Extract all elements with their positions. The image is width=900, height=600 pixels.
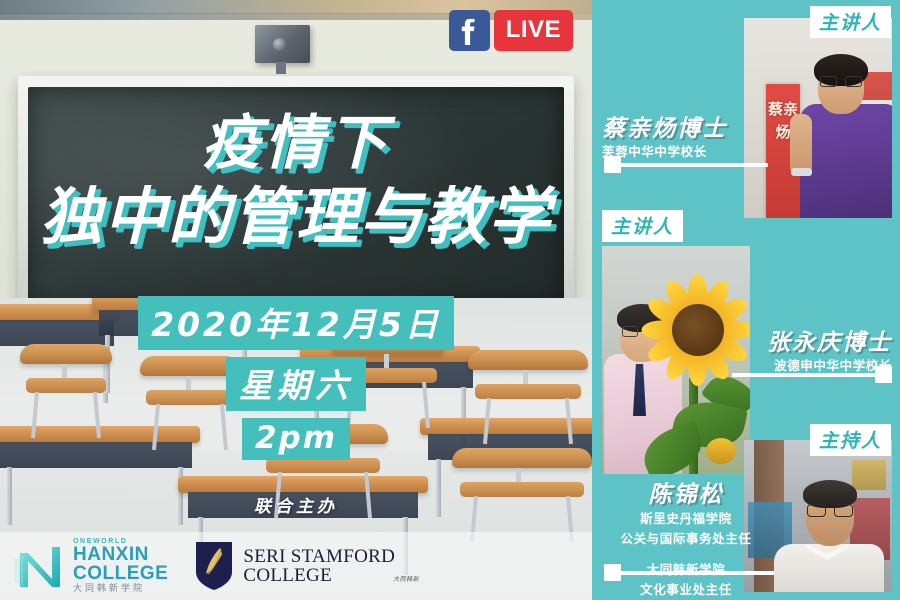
moderator-title-2-b: 文化事业处主任 <box>596 582 776 599</box>
role-badge-speaker-one: 主讲人 <box>810 6 891 38</box>
eyeglasses-icon <box>820 76 862 87</box>
speaker-one-name: 蔡亲炀博士 <box>602 116 727 142</box>
speaker-one-title: 芙蓉中华中学校长 <box>602 144 727 161</box>
moderator-name: 陈锦松 <box>596 482 776 508</box>
hanxin-name-line-2: COLLEGE <box>73 564 168 583</box>
title-line-two: 独中的管理与教学 <box>0 184 592 249</box>
event-weekday: 星期六 <box>226 357 366 411</box>
classroom-photo-panel: LIVE 疫情下 独中的管理与教学 2020年12月5日 星期六 2pm 联合主… <box>0 0 592 600</box>
title-line-one: 疫情下 <box>0 112 592 174</box>
wall-speaker-mount <box>276 62 286 74</box>
event-date: 2020年12月5日 <box>138 296 454 350</box>
organiser-logos: ONEWORLD HANXIN COLLEGE 大同韩新学院 SERI STAM… <box>0 532 592 600</box>
role-badge-speaker-two: 主讲人 <box>602 210 683 242</box>
speaker-two-name: 张永庆博士 <box>740 330 892 356</box>
stamford-name-line-1: SERI STAMFORD <box>243 547 395 566</box>
hanxin-n-mark <box>14 543 66 589</box>
role-badge-moderator: 主持人 <box>810 424 891 456</box>
hanxin-college-logo: ONEWORLD HANXIN COLLEGE 大同韩新学院 <box>14 538 168 595</box>
live-label[interactable]: LIVE <box>494 10 573 51</box>
eyeglasses-icon <box>807 504 853 517</box>
webinar-poster: LIVE 疫情下 独中的管理与教学 2020年12月5日 星期六 2pm 联合主… <box>0 0 900 600</box>
poster-title: 疫情下 独中的管理与教学 <box>0 112 592 249</box>
sunflower-icon <box>638 270 750 388</box>
speaker-two-info: 张永庆博士 波德申中华中学校长 <box>740 330 892 375</box>
moderator-title-1-a: 斯里史丹福学院 <box>596 511 776 528</box>
moderator-title-1-b: 公关与国际事务处主任 <box>596 531 776 548</box>
speakers-panel: 蔡亲炀 主讲人 蔡亲炀博士 芙蓉中华中学校长 <box>592 0 900 600</box>
moderator-info: 陈锦松 斯里史丹福学院 公关与国际事务处主任 大同韩新学院 文化事业处主任 <box>596 482 776 599</box>
hanxin-name-chinese: 大同韩新学院 <box>73 585 168 594</box>
organisers-section: 联合主办 ONEWOR <box>0 492 592 600</box>
seri-stamford-logo: SERI STAMFORD COLLEGE 大同韩新 <box>194 540 395 592</box>
moderator-title-2-a: 大同韩新学院 <box>596 562 776 579</box>
event-datetime: 2020年12月5日 星期六 2pm <box>0 296 592 460</box>
speaker-one-info: 蔡亲炀博士 芙蓉中华中学校长 <box>602 116 727 161</box>
speaker-one-photo: 蔡亲炀 <box>744 18 892 218</box>
speaker-two-title: 波德申中华中学校长 <box>740 358 892 375</box>
stamford-trademark: 大同韩新 <box>393 577 419 583</box>
hanxin-name-line-1: HANXIN <box>73 545 168 564</box>
facebook-live-badge[interactable]: LIVE <box>449 10 573 51</box>
stamford-shield-icon <box>194 540 234 592</box>
stamford-name-line-2: COLLEGE 大同韩新 <box>243 566 395 585</box>
facebook-icon[interactable] <box>449 10 490 51</box>
divider-speaker-one <box>604 162 768 167</box>
co-organiser-label: 联合主办 <box>0 492 592 517</box>
event-time: 2pm <box>242 418 350 460</box>
speaker-two-photo <box>602 246 750 474</box>
wall-speaker-icon <box>255 25 310 63</box>
